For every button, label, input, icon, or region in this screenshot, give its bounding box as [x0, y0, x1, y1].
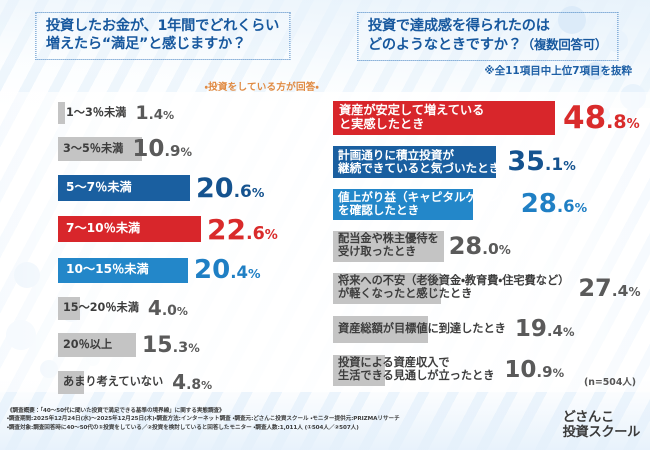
- survey-line-2: ・調査期間:2025年12月24日(水)〜2025年12月25日(木)・調査方法…: [7, 415, 527, 423]
- bar-label-line-2: が軽くなったと感じたとき: [338, 287, 472, 300]
- value-dec: .9: [536, 363, 552, 381]
- bar-label: 5〜7％未満: [58, 179, 190, 197]
- bar-row: 20％以上 15.3%: [58, 326, 323, 364]
- left-title-box: 投資したお金が、1年間でどれくらい 増えたら“満足”と感じますか？: [35, 12, 290, 60]
- logo-line-2: 投資スクール: [563, 425, 640, 440]
- value-dec: .6: [557, 197, 575, 216]
- value-dec: .4: [612, 282, 629, 300]
- value-pct: %: [575, 200, 588, 215]
- bar-label: 15〜20％未満: [58, 300, 142, 317]
- value-dec: .6: [246, 224, 265, 244]
- bar-value: 10.9%: [504, 357, 564, 383]
- right-title-line-2-main: どのようなときですか？: [368, 37, 522, 53]
- bar-value: 35.1%: [507, 146, 575, 177]
- survey-line-3: ・調査対象:調査回答時に40〜50代の①投資をしている／②投資を検討していると回…: [7, 424, 527, 432]
- bar-value: 27.4%: [578, 274, 640, 302]
- bar-value: 22.6%: [207, 213, 278, 246]
- bar-value: 48.8%: [563, 100, 640, 136]
- value-dec: .4: [230, 263, 248, 282]
- value-int: 22: [207, 213, 246, 246]
- value-pct: %: [499, 243, 511, 257]
- value-pct: %: [553, 366, 565, 380]
- bar-label: 計画通りに積立投資が継続できていると気づいたとき: [333, 147, 503, 177]
- bar-label: 3〜5％未満: [58, 141, 126, 158]
- survey-overview-text: 《調査概要：「40〜50代に聞いた投資で満足できる基準の境界線」に関する実態調査…: [7, 407, 527, 432]
- bar-row: 3〜5％未満 10.9%: [58, 130, 323, 168]
- value-int: 35: [507, 146, 545, 177]
- bar-label: 7〜10％未満: [58, 220, 201, 238]
- value-int: 27: [578, 274, 611, 302]
- bar-label-line-2: 受け取ったとき: [338, 245, 416, 258]
- bar-value: 19.4%: [515, 316, 575, 342]
- bar-row: 配当金や株主優待を受け取ったとき 28.0%: [333, 225, 648, 267]
- value-pct: %: [627, 117, 640, 132]
- value-dec: .4: [547, 322, 563, 340]
- value-dec: .6: [234, 182, 252, 202]
- value-dec: .1: [545, 155, 563, 175]
- bar-value: 1.4%: [135, 102, 174, 124]
- bar-label: 20％以上: [58, 337, 136, 354]
- value-dec: .8: [606, 111, 626, 133]
- respondent-note: ・投資をしている方が回答・: [205, 79, 319, 93]
- bar-label-line-2: と実感したとき: [339, 117, 424, 131]
- value-dec: .0: [482, 240, 499, 258]
- bar-value: 20.4%: [194, 255, 260, 285]
- bar-row: 計画通りに積立投資が継続できていると気づいたとき 35.1%: [333, 140, 648, 183]
- bar-label: 配当金や株主優待を受け取ったとき: [333, 231, 442, 260]
- value-int: 15: [142, 333, 173, 358]
- value-int: 4: [172, 370, 186, 394]
- bar-label-line-1: 配当金や株主優待を: [338, 232, 439, 245]
- left-title-line-2: 増えたら“満足”と感じますか？: [46, 36, 279, 54]
- excerpt-note: ※全11項目中上位7項目を抜粋: [484, 63, 632, 78]
- bar-label-line-1: 資産が安定して増えている: [339, 103, 484, 117]
- bar-value: 20.6%: [196, 173, 264, 204]
- bar-label: 10〜15％未満: [58, 261, 188, 279]
- bar-row: 7〜10％未満 22.6%: [58, 208, 323, 250]
- bar-label-line-1: 計画通りに積立投資が: [338, 148, 454, 162]
- value-int: 1: [135, 102, 148, 124]
- right-bar-chart: 資産が安定して増えていると実感したとき 48.8% 計画通りに積立投資が継続でき…: [333, 96, 648, 391]
- bar-label: 値上がり益（キャピタルゲイン）を確認したとき: [333, 189, 515, 219]
- value-int: 19: [515, 316, 547, 342]
- bar-label-line-2: を確認したとき: [338, 203, 419, 217]
- bar-label-line-1: 投資による資産収入で: [338, 356, 450, 369]
- bar-label-line-1: 将来への不安（老後資金・教育費・住宅費など）: [338, 274, 569, 287]
- bar-value: 10.9%: [132, 136, 192, 162]
- value-pct: %: [163, 109, 174, 122]
- value-int: 20: [194, 255, 230, 285]
- bar-label: 資産総額が目標値に到達したとき: [333, 321, 509, 338]
- bar-label: 1〜3％未満: [58, 105, 129, 122]
- bar-value: 4.8%: [172, 370, 212, 394]
- bar-row: 10〜15％未満 20.4%: [58, 250, 323, 290]
- bar-row: 資産総額が目標値に到達したとき 19.4%: [333, 309, 648, 349]
- bar-row: 5〜7％未満 20.6%: [58, 168, 323, 208]
- value-pct: %: [188, 341, 200, 355]
- value-dec: .4: [149, 107, 164, 123]
- right-question-panel: 投資で達成感を得られたのは どのようなときですか？（複数回答可） ※全11項目中…: [325, 0, 650, 450]
- value-int: 28: [449, 232, 482, 260]
- left-bar-chart: 1〜3％未満 1.4% 3〜5％未満 10.9%: [58, 96, 323, 400]
- left-title-line-1: 投資したお金が、1年間でどれくらい: [46, 18, 279, 36]
- bar-row: 1〜3％未満 1.4%: [58, 96, 323, 130]
- bar-label: 投資による資産収入で生活できる見通しが立ったとき: [333, 355, 497, 384]
- bar-label-line-1: 値上がり益（キャピタルゲイン）: [338, 190, 512, 204]
- bar-row: 15〜20％未満 4.0%: [58, 290, 323, 326]
- bar-row: 資産が安定して増えていると実感したとき 48.8%: [333, 96, 648, 140]
- value-pct: %: [563, 325, 575, 339]
- value-pct: %: [265, 228, 278, 243]
- value-pct: %: [628, 285, 640, 299]
- bar-label: 将来への不安（老後資金・教育費・住宅費など）が軽くなったと感じたとき: [333, 273, 572, 302]
- value-dec: .9: [164, 142, 180, 160]
- bar-value: 4.0%: [148, 296, 188, 320]
- logo-line-1: どさんこ: [563, 410, 640, 425]
- value-dec: .8: [186, 377, 201, 393]
- value-int: 4: [148, 296, 162, 320]
- right-title-box: 投資で達成感を得られたのは どのようなときですか？（複数回答可）: [357, 12, 618, 61]
- right-title-line-1: 投資で達成感を得られたのは: [368, 18, 607, 36]
- value-pct: %: [248, 266, 261, 281]
- bar-label: あまり考えていない: [58, 374, 166, 391]
- footer: 《調査概要：「40〜50代に聞いた投資で満足できる基準の境界線」に関する実態調査…: [0, 402, 650, 450]
- value-pct: %: [177, 305, 188, 318]
- bar-label: 資産が安定して増えていると実感したとき: [333, 102, 555, 133]
- bar-value: 15.3%: [142, 333, 200, 358]
- bar-label-line-2: 生活できる見通しが立ったとき: [338, 369, 494, 382]
- right-title-suffix: （複数回答可）: [522, 37, 607, 52]
- value-pct: %: [201, 379, 212, 392]
- value-dec: .3: [173, 340, 189, 356]
- right-title-line-2: どのようなときですか？（複数回答可）: [368, 36, 607, 55]
- value-pct: %: [252, 185, 265, 200]
- bar-row: 将来への不安（老後資金・教育費・住宅費など）が軽くなったと感じたとき 27.4%: [333, 267, 648, 309]
- bar-value: 28.0%: [449, 232, 511, 260]
- value-int: 48: [563, 100, 606, 136]
- bar-label-line-2: 継続できていると気づいたとき: [338, 161, 500, 175]
- value-int: 20: [196, 173, 234, 204]
- value-pct: %: [563, 158, 576, 173]
- value-int: 10: [132, 136, 164, 162]
- value-int: 28: [521, 189, 557, 219]
- bar-row: 値上がり益（キャピタルゲイン）を確認したとき 28.6%: [333, 183, 648, 225]
- brand-logo: どさんこ 投資スクール: [563, 410, 640, 440]
- left-question-panel: 投資したお金が、1年間でどれくらい 増えたら“満足”と感じますか？ ・投資をして…: [0, 0, 325, 450]
- value-int: 10: [504, 357, 536, 383]
- sample-size-note: (n=504人): [584, 374, 636, 388]
- survey-line-1: 《調査概要：「40〜50代に聞いた投資で満足できる基準の境界線」に関する実態調査…: [7, 407, 527, 415]
- value-dec: .0: [162, 303, 177, 319]
- bar-value: 28.6%: [521, 189, 587, 219]
- value-pct: %: [180, 145, 192, 159]
- bar-row: あまり考えていない 4.8%: [58, 364, 323, 400]
